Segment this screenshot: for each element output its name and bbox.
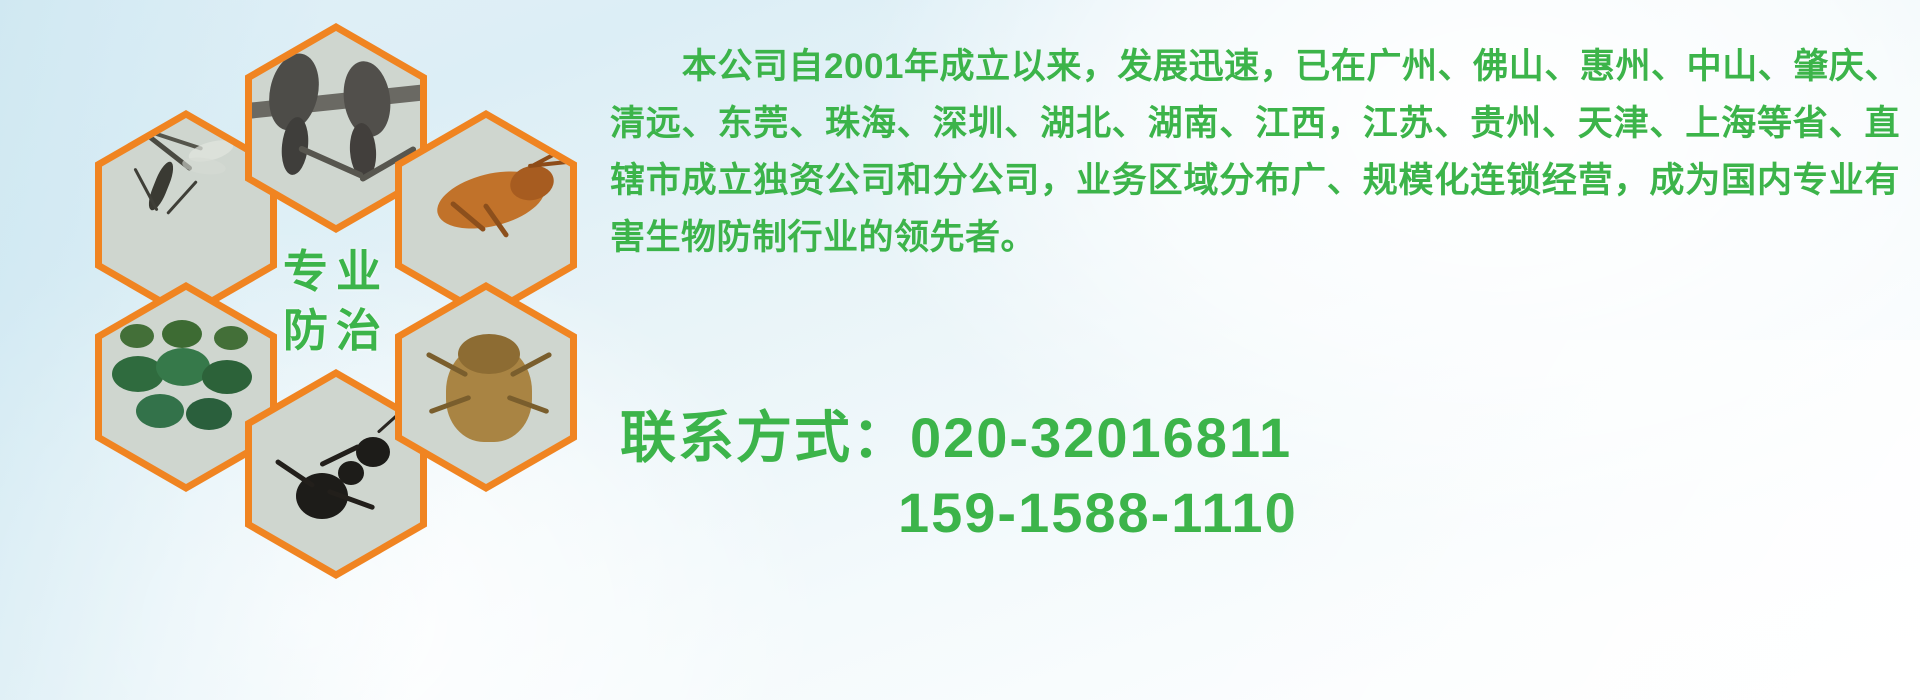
contact-block: 联系方式：020-32016811 159-1588-1110 <box>620 400 1910 550</box>
ant-illustration <box>252 377 420 571</box>
stink-bug-illustration <box>402 290 570 484</box>
company-intro-paragraph: 本公司自2001年成立以来，发展迅速，已在广州、佛山、惠州、中山、肇庆、清远、东… <box>610 38 1900 266</box>
contact-line-primary[interactable]: 联系方式：020-32016811 <box>620 400 1910 475</box>
rat-photo <box>252 31 420 225</box>
badge-line-2: 防治 <box>283 308 389 353</box>
ant-photo <box>252 377 420 571</box>
fly-photo <box>102 290 270 484</box>
honeycomb-cluster: 专业 防治 <box>95 5 595 565</box>
rat-illustration <box>252 31 420 225</box>
company-intro: 本公司自2001年成立以来，发展迅速，已在广州、佛山、惠州、中山、肇庆、清远、东… <box>610 38 1900 266</box>
contact-phone-secondary[interactable]: 159-1588-1110 <box>620 475 1910 550</box>
promo-banner: 专业 防治 本公司自2001年成立以来，发展迅速，已在广州、佛山、惠州、中山、肇… <box>0 0 1920 700</box>
stink-bug-photo <box>402 290 570 484</box>
fly-illustration <box>102 290 270 484</box>
badge-line-1: 专业 <box>283 249 389 294</box>
contact-label: 联系方式： <box>620 406 910 469</box>
contact-phone-primary[interactable]: 020-32016811 <box>910 406 1292 469</box>
